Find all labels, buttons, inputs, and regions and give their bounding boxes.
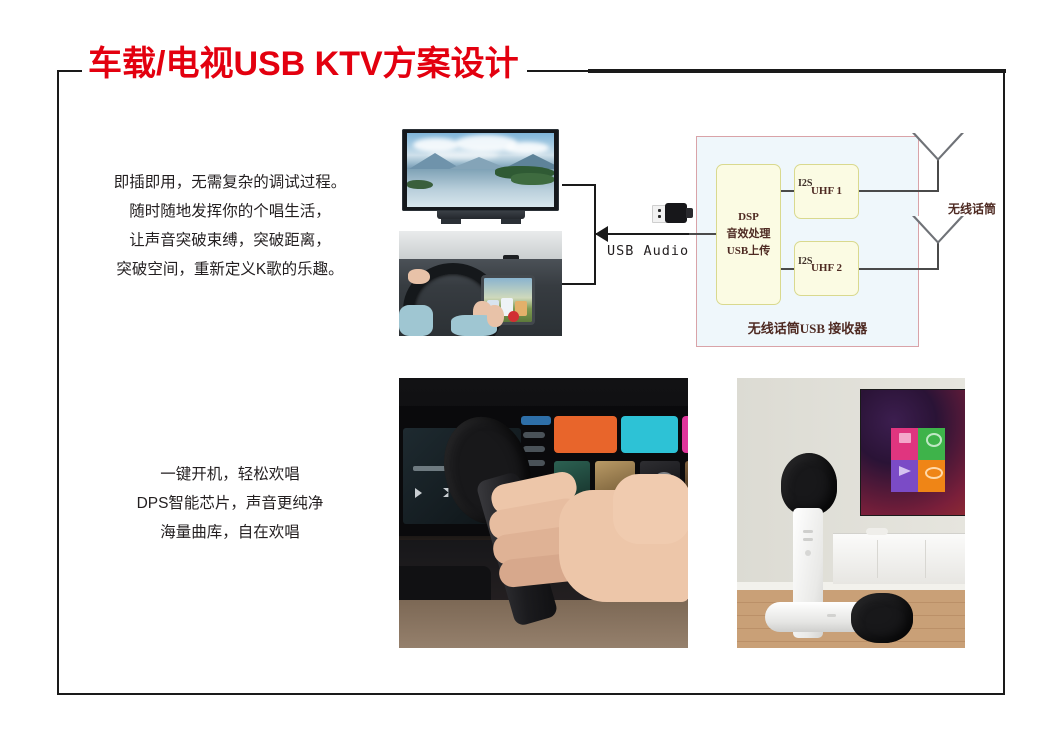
feature-copy-block: 一键开机，轻松欢唱 DPS智能芯片，声音更纯净 海量曲库，自在欢唱: [75, 460, 385, 547]
i2s-2-label: I2S: [798, 256, 812, 267]
wire-from-tv: [562, 184, 596, 186]
mic-button: [803, 538, 813, 541]
standing-mic-foam-head: [781, 453, 837, 515]
wire-i2s-1: [781, 190, 794, 192]
usb-plug-icon: [652, 203, 692, 223]
tv-tile-music: [891, 428, 918, 460]
block-dsp-line-3: USB上传: [727, 243, 770, 260]
tv-cabinet: [833, 533, 965, 584]
ui-tile-pink: [682, 416, 688, 453]
car-finger-tapping: [487, 305, 504, 327]
wire-usb-audio: [596, 233, 696, 235]
title-underline-rule: [588, 69, 1006, 73]
car-screen-record-icon: [508, 311, 519, 322]
antenna-icon-2-fill: [915, 216, 961, 241]
paper-plane-icon: [899, 466, 911, 476]
block-dsp-line-1: DSP: [738, 209, 759, 226]
block-uhf-1-label: UHF 1: [811, 183, 842, 200]
car-hand-on-wheel: [408, 269, 430, 284]
photo-microphones-with-tv: [737, 378, 965, 648]
feature-copy-line-2: DPS智能芯片，声音更纯净: [75, 489, 385, 518]
wire-into-dsp: [689, 233, 717, 235]
intro-copy-line-1: 即插即用，无需复杂的调试过程。: [75, 168, 385, 197]
tv-tile-chat: [918, 428, 945, 460]
music-folder-icon: [899, 433, 911, 443]
wire-from-car: [562, 283, 596, 285]
ui-play-icon: [415, 488, 422, 498]
photo-television: [399, 127, 562, 228]
ui-badge: [521, 416, 551, 425]
chat-bubble-icon: [926, 433, 942, 447]
mic-button: [827, 614, 836, 617]
intro-copy-line-4: 突破空间，重新定义K歌的乐趣。: [75, 255, 385, 284]
wire-i2s-2: [781, 268, 794, 270]
tv-screen: [407, 133, 554, 207]
antenna-icon-1-fill: [915, 133, 961, 158]
photo-car-interior: [399, 231, 562, 336]
intro-copy-line-2: 随时随地发挥你的个唱生活，: [75, 197, 385, 226]
cabinet-seam: [877, 540, 878, 578]
tv-foot: [501, 219, 521, 224]
tv-cloud: [505, 142, 549, 154]
usb-audio-label: USB Audio: [607, 243, 689, 259]
tv-shoreline: [407, 180, 433, 189]
photo-microphone-in-car: [399, 378, 688, 648]
usb-contact-dot: [658, 209, 661, 212]
i2s-1-label: I2S: [798, 178, 812, 189]
wall-mounted-tv: [860, 389, 965, 516]
block-dsp: DSP 音效处理 USB上传: [716, 164, 781, 305]
ui-tile-orange: [554, 416, 617, 453]
block-uhf-1: UHF 1: [794, 164, 859, 219]
car-vent: [399, 566, 491, 600]
wireless-microphone-label: 无线话筒: [948, 200, 996, 217]
block-dsp-line-2: 音效处理: [727, 226, 771, 243]
receiver-caption: 无线话筒USB 接收器: [696, 318, 919, 337]
tv-shoreline: [511, 173, 554, 185]
page-title: 车载/电视USB KTV方案设计: [82, 42, 527, 86]
usb-housing: [665, 203, 687, 223]
block-uhf-2: UHF 2: [794, 241, 859, 296]
forearm: [613, 474, 688, 544]
feature-copy-line-3: 海量曲库，自在欢唱: [75, 518, 385, 547]
mic-indicator: [805, 550, 811, 556]
eye-icon: [925, 467, 943, 479]
wire-to-antenna-1: [859, 190, 939, 192]
left-arrow-icon: [595, 226, 608, 242]
intro-copy-line-3: 让声音突破束缚，突破距离，: [75, 226, 385, 255]
mic-button: [803, 530, 813, 533]
tv-foot: [441, 219, 461, 224]
usb-contact-dot: [658, 215, 661, 218]
lying-mic-foam-head: [851, 593, 913, 643]
ui-label: [523, 432, 545, 438]
car-windshield: [399, 231, 562, 261]
ui-tile-cyan: [621, 416, 678, 453]
intro-copy-block: 即插即用，无需复杂的调试过程。 随时随地发挥你的个唱生活， 让声音突破束缚，突破…: [75, 168, 385, 284]
wire-to-antenna-2: [859, 268, 939, 270]
tv-tile-view: [918, 460, 945, 492]
tv-tile-send: [891, 460, 918, 492]
tv-stand: [437, 211, 525, 219]
wire-antenna-2-riser: [937, 243, 939, 270]
block-uhf-2-label: UHF 2: [811, 260, 842, 277]
wire-antenna-1-riser: [937, 160, 939, 192]
usb-cable-tail: [686, 208, 693, 218]
ui-label: [523, 446, 545, 452]
remote-control: [866, 528, 888, 535]
tv-bezel: [402, 129, 559, 211]
car-driver-arm: [399, 305, 433, 336]
cabinet-seam: [925, 540, 926, 578]
feature-copy-line-1: 一键开机，轻松欢唱: [75, 460, 385, 489]
